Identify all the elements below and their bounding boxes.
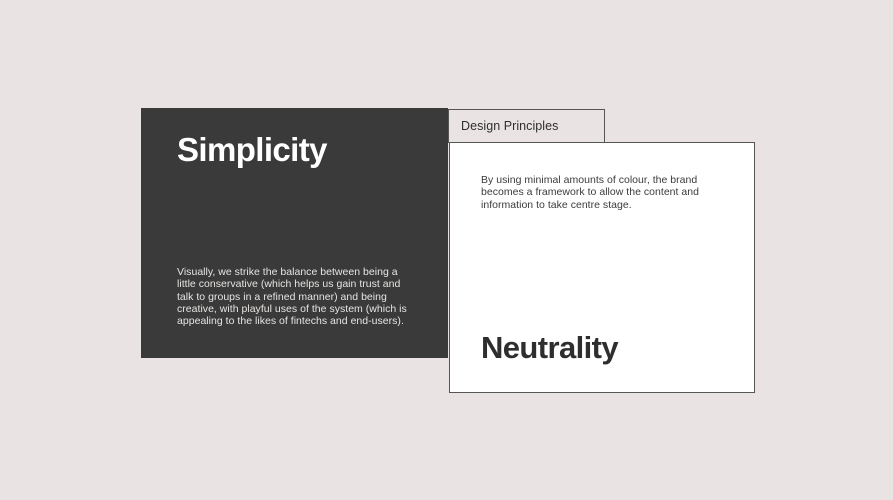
neutrality-card: By using minimal amounts of colour, the … (449, 142, 755, 393)
tab-design-principles[interactable]: Design Principles (448, 109, 605, 143)
tab-design-principles-label: Design Principles (449, 120, 558, 133)
slide-canvas: Simplicity Visually, we strike the balan… (0, 0, 893, 500)
neutrality-title: Neutrality (481, 331, 618, 365)
simplicity-description: Visually, we strike the balance between … (177, 266, 409, 327)
neutrality-description: By using minimal amounts of colour, the … (481, 174, 705, 211)
simplicity-title: Simplicity (177, 132, 327, 168)
simplicity-card: Simplicity Visually, we strike the balan… (141, 108, 448, 358)
